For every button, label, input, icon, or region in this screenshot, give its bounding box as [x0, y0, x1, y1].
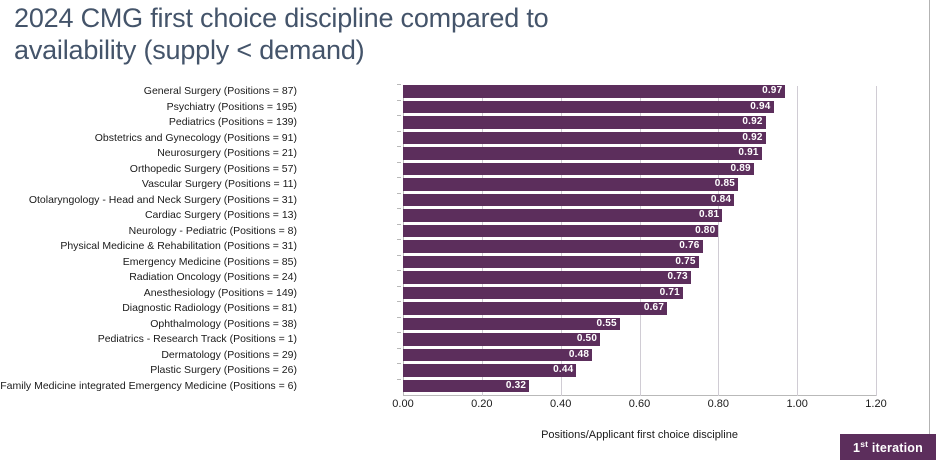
- bar-row: Emergency Medicine (Positions = 85)0.75: [0, 255, 936, 271]
- bar-value-label: 0.85: [715, 178, 735, 191]
- category-label: Neurology - Pediatric (Positions = 8): [0, 224, 297, 240]
- x-tick-label: 1.20: [846, 398, 906, 410]
- bar-value-label: 0.32: [506, 380, 526, 393]
- y-axis-tick: [397, 146, 401, 147]
- x-tick-label: 0.80: [688, 398, 748, 410]
- bar: 0.32: [403, 380, 529, 393]
- y-axis-tick: [397, 255, 401, 256]
- category-label: Neurosurgery (Positions = 21): [0, 146, 297, 162]
- y-axis-tick: [397, 379, 401, 380]
- bar-row: Diagnostic Radiology (Positions = 81)0.6…: [0, 301, 936, 317]
- x-tick-label: 0.60: [610, 398, 670, 410]
- bar-row: Cardiac Surgery (Positions = 13)0.81: [0, 208, 936, 224]
- bar-fill: [403, 302, 667, 315]
- bar-row: Vascular Surgery (Positions = 11)0.85: [0, 177, 936, 193]
- category-label: Emergency Medicine (Positions = 85): [0, 255, 297, 271]
- bar: 0.84: [403, 194, 734, 207]
- bar-value-label: 0.55: [597, 318, 617, 331]
- bar: 0.97: [403, 85, 785, 98]
- bar-value-label: 0.48: [569, 349, 589, 362]
- bar-fill: [403, 333, 600, 346]
- bar: 0.67: [403, 302, 667, 315]
- bar-fill: [403, 287, 683, 300]
- bar: 0.80: [403, 225, 718, 238]
- y-axis-tick: [397, 177, 401, 178]
- x-tick-label: 1.00: [767, 398, 827, 410]
- category-label: Orthopedic Surgery (Positions = 57): [0, 162, 297, 178]
- bar-row: Physical Medicine & Rehabilitation (Posi…: [0, 239, 936, 255]
- bar: 0.94: [403, 101, 774, 114]
- y-axis-tick: [397, 239, 401, 240]
- category-label: Diagnostic Radiology (Positions = 81): [0, 301, 297, 317]
- bar: 0.75: [403, 256, 699, 269]
- bar-value-label: 0.92: [742, 116, 762, 129]
- bar-fill: [403, 364, 576, 377]
- bar-fill: [403, 116, 766, 129]
- x-axis-title: Positions/Applicant first choice discipl…: [403, 429, 876, 441]
- y-axis-tick: [397, 115, 401, 116]
- bar-chart: General Surgery (Positions = 87)0.97Psyc…: [0, 84, 936, 404]
- bar-value-label: 0.50: [577, 333, 597, 346]
- bar-rows: General Surgery (Positions = 87)0.97Psyc…: [0, 84, 936, 394]
- category-label: Plastic Surgery (Positions = 26): [0, 363, 297, 379]
- category-label: Pediatrics (Positions = 139): [0, 115, 297, 131]
- y-axis-tick: [397, 131, 401, 132]
- bar-fill: [403, 101, 774, 114]
- bar: 0.71: [403, 287, 683, 300]
- bar-fill: [403, 209, 722, 222]
- y-axis-tick: [397, 100, 401, 101]
- y-axis-tick: [397, 363, 401, 364]
- bar-row: Anesthesiology (Positions = 149)0.71: [0, 286, 936, 302]
- bar-fill: [403, 240, 703, 253]
- category-label: Cardiac Surgery (Positions = 13): [0, 208, 297, 224]
- y-axis-tick: [397, 348, 401, 349]
- category-label: Physical Medicine & Rehabilitation (Posi…: [0, 239, 297, 255]
- y-axis-tick: [397, 332, 401, 333]
- bar: 0.44: [403, 364, 576, 377]
- bar: 0.76: [403, 240, 703, 253]
- category-label: Anesthesiology (Positions = 149): [0, 286, 297, 302]
- bar-value-label: 0.92: [742, 132, 762, 145]
- bar-value-label: 0.97: [762, 85, 782, 98]
- category-label: Vascular Surgery (Positions = 11): [0, 177, 297, 193]
- bar-row: Dermatology (Positions = 29)0.48: [0, 348, 936, 364]
- bar-fill: [403, 225, 718, 238]
- bar: 0.91: [403, 147, 762, 160]
- bar-value-label: 0.71: [660, 287, 680, 300]
- y-axis-tick: [397, 301, 401, 302]
- y-axis-tick: [397, 84, 401, 85]
- bar: 0.92: [403, 132, 766, 145]
- bar: 0.81: [403, 209, 722, 222]
- bar-row: Psychiatry (Positions = 195)0.94: [0, 100, 936, 116]
- bar-value-label: 0.73: [667, 271, 687, 284]
- y-axis-tick: [397, 224, 401, 225]
- category-label: General Surgery (Positions = 87): [0, 84, 297, 100]
- bar: 0.92: [403, 116, 766, 129]
- bar-fill: [403, 178, 738, 191]
- x-tick-label: 0.40: [531, 398, 591, 410]
- bar: 0.89: [403, 163, 754, 176]
- bar-value-label: 0.91: [738, 147, 758, 160]
- bar-value-label: 0.80: [695, 225, 715, 238]
- bar-value-label: 0.84: [711, 194, 731, 207]
- bar-fill: [403, 163, 754, 176]
- bar-fill: [403, 147, 762, 160]
- badge-text: 1st iteration: [853, 439, 923, 455]
- y-axis-tick: [397, 270, 401, 271]
- bar-row: Orthopedic Surgery (Positions = 57)0.89: [0, 162, 936, 178]
- category-label: Dermatology (Positions = 29): [0, 348, 297, 364]
- bar-row: Plastic Surgery (Positions = 26)0.44: [0, 363, 936, 379]
- y-axis-tick: [397, 162, 401, 163]
- category-label: Psychiatry (Positions = 195): [0, 100, 297, 116]
- bar-value-label: 0.76: [679, 240, 699, 253]
- category-label: Otolaryngology - Head and Neck Surgery (…: [0, 193, 297, 209]
- bar-row: Ophthalmology (Positions = 38)0.55: [0, 317, 936, 333]
- category-label: Family Medicine integrated Emergency Med…: [0, 379, 297, 395]
- category-label: Pediatrics - Research Track (Positions =…: [0, 332, 297, 348]
- bar: 0.73: [403, 271, 691, 284]
- y-axis-tick: [397, 317, 401, 318]
- category-label: Obstetrics and Gynecology (Positions = 9…: [0, 131, 297, 147]
- bar-row: Family Medicine integrated Emergency Med…: [0, 379, 936, 395]
- bar-row: Neurosurgery (Positions = 21)0.91: [0, 146, 936, 162]
- category-label: Ophthalmology (Positions = 38): [0, 317, 297, 333]
- y-axis-tick: [397, 286, 401, 287]
- bar: 0.85: [403, 178, 738, 191]
- slide-canvas: 2024 CMG first choice discipline compare…: [0, 0, 936, 460]
- bar: 0.48: [403, 349, 592, 362]
- bar-value-label: 0.81: [699, 209, 719, 222]
- bar-fill: [403, 318, 620, 331]
- x-tick-label: 0.20: [452, 398, 512, 410]
- status-badge: 1st iteration: [840, 434, 936, 460]
- bar-value-label: 0.94: [750, 101, 770, 114]
- bar-value-label: 0.75: [675, 256, 695, 269]
- y-axis-tick: [397, 193, 401, 194]
- bar: 0.55: [403, 318, 620, 331]
- bar-row: General Surgery (Positions = 87)0.97: [0, 84, 936, 100]
- bar-fill: [403, 132, 766, 145]
- bar-fill: [403, 194, 734, 207]
- bar-row: Neurology - Pediatric (Positions = 8)0.8…: [0, 224, 936, 240]
- bar-value-label: 0.67: [644, 302, 664, 315]
- bar-row: Pediatrics - Research Track (Positions =…: [0, 332, 936, 348]
- bar-value-label: 0.89: [731, 163, 751, 176]
- bar-row: Radiation Oncology (Positions = 24)0.73: [0, 270, 936, 286]
- bar-row: Otolaryngology - Head and Neck Surgery (…: [0, 193, 936, 209]
- bar-value-label: 0.44: [553, 364, 573, 377]
- bar-fill: [403, 85, 785, 98]
- bar-fill: [403, 256, 699, 269]
- bar: 0.50: [403, 333, 600, 346]
- x-tick-label: 0.00: [373, 398, 433, 410]
- page-title: 2024 CMG first choice discipline compare…: [14, 2, 654, 66]
- y-axis-tick: [397, 208, 401, 209]
- bar-fill: [403, 349, 592, 362]
- bar-row: Pediatrics (Positions = 139)0.92: [0, 115, 936, 131]
- bar-row: Obstetrics and Gynecology (Positions = 9…: [0, 131, 936, 147]
- bar-fill: [403, 271, 691, 284]
- category-label: Radiation Oncology (Positions = 24): [0, 270, 297, 286]
